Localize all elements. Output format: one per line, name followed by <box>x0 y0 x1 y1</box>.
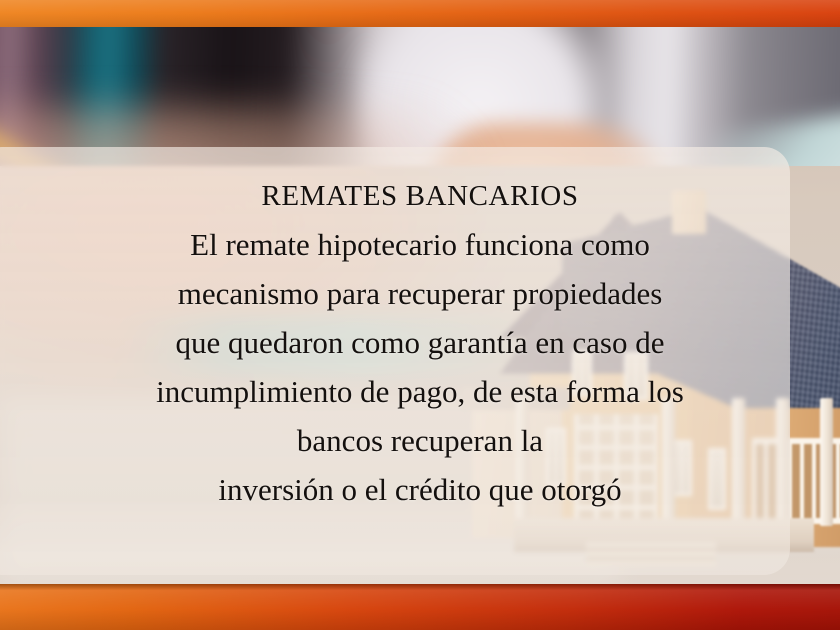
body-line-2: mecanismo para recuperar propiedades <box>0 269 840 318</box>
slide-title: REMATES BANCARIOS <box>0 182 840 211</box>
bottom-brand-bar <box>0 584 840 630</box>
body-line-6: inversión o el crédito que otorgó <box>0 465 840 514</box>
bottom-bar-sheen <box>0 584 840 630</box>
slide-canvas: REMATES BANCARIOS El remate hipotecario … <box>0 0 840 630</box>
caption-text-block: REMATES BANCARIOS El remate hipotecario … <box>0 182 840 514</box>
body-line-4: incumplimiento de pago, de esta forma lo… <box>0 367 840 416</box>
body-line-1: El remate hipotecario funciona como <box>0 220 840 269</box>
body-line-5: bancos recuperan la <box>0 416 840 465</box>
top-brand-bar <box>0 0 840 27</box>
top-bar-sheen <box>0 0 840 27</box>
body-line-3: que quedaron como garantía en caso de <box>0 318 840 367</box>
